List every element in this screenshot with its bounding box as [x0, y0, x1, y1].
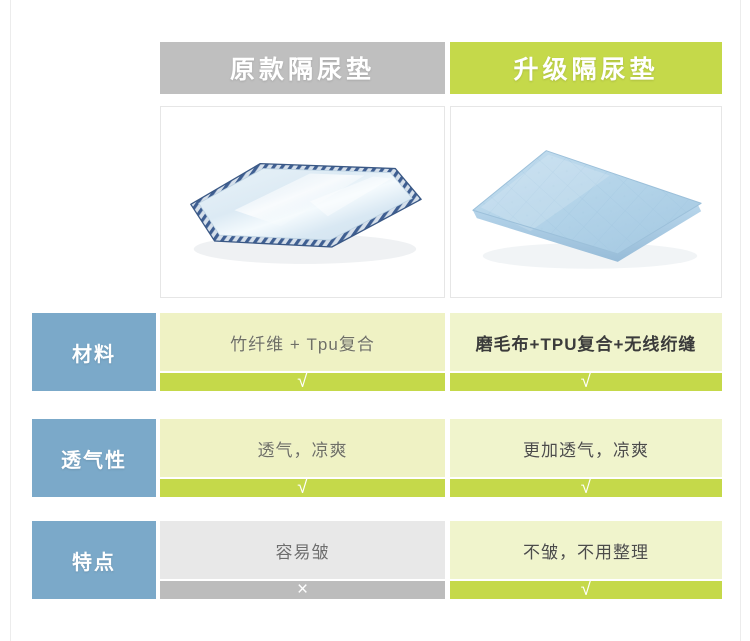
cell-value-text: 容易皱: [276, 538, 330, 563]
row-label-material: 材料: [32, 313, 156, 391]
cell-upgraded-material: 磨毛布+TPU复合+无线绗缝 √: [450, 313, 722, 391]
cell-mark: √: [450, 373, 722, 391]
cell-value: 竹纤维 + Tpu复合: [160, 313, 445, 371]
cell-value: 不皱，不用整理: [450, 521, 722, 579]
check-icon: √: [297, 373, 307, 391]
product-photo-upgraded: [450, 106, 722, 298]
row-label-text: 材料: [72, 338, 116, 367]
cell-mark: √: [160, 373, 445, 391]
cell-value-text: 不皱，不用整理: [523, 538, 649, 563]
row-label-text: 特点: [72, 546, 116, 575]
row-label-text: 透气性: [61, 444, 127, 473]
check-icon: √: [581, 479, 591, 497]
cell-value-text: 更加透气，凉爽: [523, 436, 649, 461]
table-row: 材料 竹纤维 + Tpu复合 √ 磨毛布+TPU复合+无线绗缝 √: [0, 313, 750, 391]
check-icon: √: [297, 479, 307, 497]
cell-mark: ×: [160, 581, 445, 599]
column-header-original-label: 原款隔尿垫: [230, 50, 375, 86]
column-header-upgraded: 升级隔尿垫: [450, 42, 722, 94]
cell-original-features: 容易皱 ×: [160, 521, 445, 599]
cross-icon: ×: [297, 581, 308, 599]
table-row: 透气性 透气，凉爽 √ 更加透气，凉爽 √: [0, 419, 750, 497]
column-header-original: 原款隔尿垫: [160, 42, 445, 94]
cell-value-text: 竹纤维 + Tpu复合: [230, 330, 375, 355]
cell-value-text: 透气，凉爽: [258, 436, 348, 461]
cell-upgraded-features: 不皱，不用整理 √: [450, 521, 722, 599]
cell-value: 磨毛布+TPU复合+无线绗缝: [450, 313, 722, 371]
product-photo-original: [160, 106, 445, 298]
cell-value: 容易皱: [160, 521, 445, 579]
cell-upgraded-breathability: 更加透气，凉爽 √: [450, 419, 722, 497]
row-label-features: 特点: [32, 521, 156, 599]
column-header-upgraded-label: 升级隔尿垫: [513, 50, 658, 86]
check-icon: √: [581, 581, 591, 599]
cell-value: 更加透气，凉爽: [450, 419, 722, 477]
cell-mark: √: [450, 479, 722, 497]
cell-mark: √: [450, 581, 722, 599]
upgraded-mat-illustration: [451, 107, 721, 298]
check-icon: √: [581, 373, 591, 391]
original-mat-illustration: [161, 107, 444, 298]
cell-original-breathability: 透气，凉爽 √: [160, 419, 445, 497]
cell-value-text: 磨毛布+TPU复合+无线绗缝: [476, 330, 697, 355]
comparison-infographic: 原款隔尿垫 升级隔尿垫: [0, 0, 750, 641]
cell-mark: √: [160, 479, 445, 497]
row-label-breathability: 透气性: [32, 419, 156, 497]
cell-value: 透气，凉爽: [160, 419, 445, 477]
cell-original-material: 竹纤维 + Tpu复合 √: [160, 313, 445, 391]
table-row: 特点 容易皱 × 不皱，不用整理 √: [0, 521, 750, 599]
